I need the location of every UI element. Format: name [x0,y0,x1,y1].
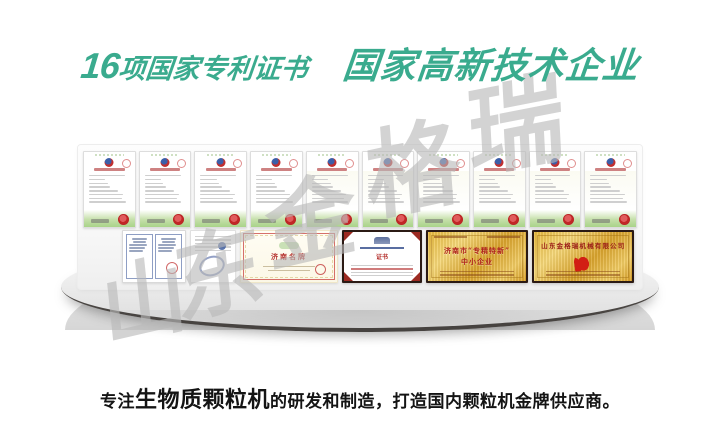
slogan: 专注生物质颗粒机的研发和制造，打造国内颗粒机金牌供应商。 [0,382,720,414]
slogan-prefix: 专注 [100,392,135,411]
corner-ornament-icon [344,272,353,281]
headline: 16项国家专利证书 国家高新技术企业 [0,40,720,92]
national-emblem-icon [606,158,615,167]
certificate-item[interactable] [584,151,637,228]
headline-patents: 16项国家专利证书 [80,48,311,84]
certificate-body [530,171,581,210]
license-page-right [155,234,182,279]
certificate-item[interactable] [473,151,526,228]
seal-icon [177,159,186,168]
certificate-title-bar [317,168,347,171]
seal-icon [122,159,131,168]
signature-icon [314,219,332,223]
certificate-header [530,152,581,159]
certificate-body [140,171,191,210]
national-emblem-icon [216,158,225,167]
seal-icon [623,159,632,168]
certificate-item[interactable] [417,151,470,228]
certificate-title-bar [540,168,570,171]
signature-icon [258,219,276,223]
stage-shadow [77,310,643,344]
signature-icon [592,219,610,223]
patent-count: 16 [79,45,121,86]
headline-high-tech: 国家高新技术企业 [341,48,641,84]
plaque-header [434,236,520,239]
national-emblem-icon [550,158,559,167]
certificate-body [84,171,135,210]
red-seal-icon [563,214,574,225]
certificate-header [84,152,135,159]
certificate-footer [84,210,135,227]
certificate-item[interactable] [306,151,359,228]
certificate-footer [140,210,191,227]
award-jinan-brand[interactable]: 济南名牌 [240,230,338,283]
certificate-footer [307,210,358,227]
certificate-footer [251,210,302,227]
corner-ornament-icon [344,232,353,241]
certificate-title-bar [595,168,625,171]
plaque-footer [440,271,514,276]
seal-icon [233,159,242,168]
certificate-title-bar [428,168,458,171]
red-seal-icon [396,214,407,225]
certificate-body [307,171,358,210]
certificate-header [140,152,191,159]
red-seal-icon [315,264,326,275]
certificate-footer [585,210,636,227]
certificate-row-top [83,151,637,226]
red-seal-icon [341,214,352,225]
plaque-title-line-2: 中小企业 [461,257,493,268]
certificate-title-bar [373,168,403,171]
corner-ornament-icon [411,272,420,281]
signature-icon [425,219,443,223]
ribbon-icon [279,242,299,249]
award-iso-certificate[interactable] [190,230,236,283]
certificate-item[interactable] [194,151,247,228]
patent-count-label: 项国家专利证书 [118,54,310,84]
red-stamp-icon [166,262,178,274]
certificate-body [363,171,414,210]
certificate-title-bar [150,168,180,171]
signature-icon [537,219,555,223]
plaque-footer [546,271,620,276]
national-emblem-icon [272,158,281,167]
flame-logo-icon [573,252,593,272]
certificate-title-bar [94,168,124,171]
license-page-left [126,234,153,279]
certificate-header [307,152,358,159]
seal-icon [289,159,298,168]
signature-icon [147,219,165,223]
seal-icon [567,159,576,168]
plaque-company-name: 山东金格瑞机械有限公司 [541,240,625,250]
certificate-title-bar [484,168,514,171]
certificate-body [251,171,302,210]
red-seal-icon [619,214,630,225]
certificate-body [351,265,413,276]
red-seal-icon [173,214,184,225]
award-row-bottom: 济南名牌 证书 济南市“专精特新” 中小企业 [122,230,600,283]
signature-icon [481,219,499,223]
certificate-item[interactable] [250,151,303,228]
certificate-body [418,171,469,210]
certificate-item[interactable] [362,151,415,228]
national-emblem-icon [328,158,337,167]
certificate-title-bar [206,168,236,171]
certificate-footer [418,210,469,227]
certificate-footer [474,210,525,227]
seal-icon [345,159,354,168]
signature-icon [370,219,388,223]
red-seal-icon [452,214,463,225]
certificate-body [195,171,246,210]
certificate-item[interactable] [83,151,136,228]
award-business-license[interactable] [122,230,186,283]
certificate-body [474,171,525,210]
certificate-footer [530,210,581,227]
certificate-title-bar [360,247,404,249]
award-high-tech-certificate[interactable]: 证书 [342,230,422,283]
national-emblem-icon [105,158,114,167]
seal-icon [456,159,465,168]
certificate-wall: 济南名牌 证书 济南市“专精特新” 中小企业 [78,145,642,289]
badge-icon [218,242,226,250]
brand-line-2 [268,270,310,271]
certificate-header [363,152,414,159]
national-emblem-icon [383,158,392,167]
certificate-header [585,152,636,159]
certificate-footer [363,210,414,227]
slogan-suffix: 的研发和制造，打造国内颗粒机金牌供应商。 [270,392,620,411]
red-seal-icon [285,214,296,225]
promo-banner: 16项国家专利证书 国家高新技术企业 [0,0,720,446]
certificate-item[interactable] [529,151,582,228]
certificate-footer [195,210,246,227]
signature-icon [202,219,220,223]
certificate-header [418,152,469,159]
certificate-header [251,152,302,159]
national-emblem-icon [161,158,170,167]
national-emblem-icon [495,158,504,167]
ribbon-icon [197,252,228,279]
slogan-emphasis: 生物质颗粒机 [135,387,270,412]
certificate-title-bar [261,168,291,171]
seal-icon [512,159,521,168]
red-seal-icon [229,214,240,225]
award-gold-plaque-company[interactable]: 山东金格瑞机械有限公司 [532,230,634,283]
award-gold-plaque-sme[interactable]: 济南市“专精特新” 中小企业 [426,230,528,283]
crest-icon [374,237,390,244]
seal-icon [400,159,409,168]
certificate-header [474,152,525,159]
award-high-tech-label: 证书 [376,252,388,261]
certificate-item[interactable] [139,151,192,228]
national-emblem-icon [439,158,448,167]
brand-line-1 [263,266,315,267]
signature-icon [91,219,109,223]
plaque-title-line-1: 济南市“专精特新” [444,246,510,257]
red-seal-icon [118,214,129,225]
corner-ornament-icon [411,232,420,241]
red-seal-icon [508,214,519,225]
certificate-body [585,171,636,210]
award-brand-label: 济南名牌 [271,252,307,262]
certificate-header [195,152,246,159]
